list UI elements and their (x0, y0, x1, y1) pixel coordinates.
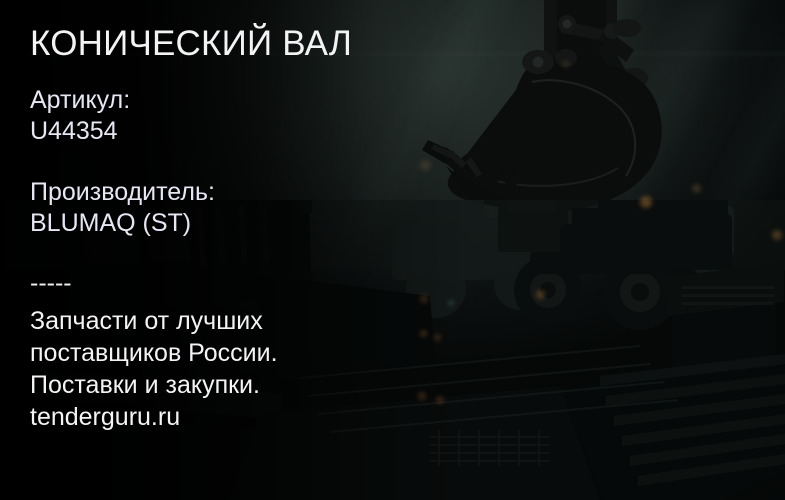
divider-dashes: ----- (30, 268, 72, 299)
tagline-line-1: Запчасти от лучших (30, 305, 278, 337)
article-label: Артикул: (30, 85, 130, 116)
manufacturer-value: BLUMAQ (ST) (30, 208, 215, 239)
tagline-line-2: поставщиков России. (30, 337, 278, 369)
page-title: КОНИЧЕСКИЙ ВАЛ (30, 24, 352, 64)
tagline-line-3: Поставки и закупки. (30, 369, 278, 401)
article-value: U44354 (30, 116, 130, 147)
text-overlay: КОНИЧЕСКИЙ ВАЛ Артикул: U44354 Производи… (0, 0, 785, 500)
article-field: Артикул: U44354 (30, 85, 130, 147)
product-banner-card: КОНИЧЕСКИЙ ВАЛ Артикул: U44354 Производи… (0, 0, 785, 500)
manufacturer-label: Производитель: (30, 177, 215, 208)
tagline-block: Запчасти от лучших поставщиков России. П… (30, 305, 278, 433)
manufacturer-field: Производитель: BLUMAQ (ST) (30, 177, 215, 239)
site-url: tenderguru.ru (30, 401, 278, 433)
